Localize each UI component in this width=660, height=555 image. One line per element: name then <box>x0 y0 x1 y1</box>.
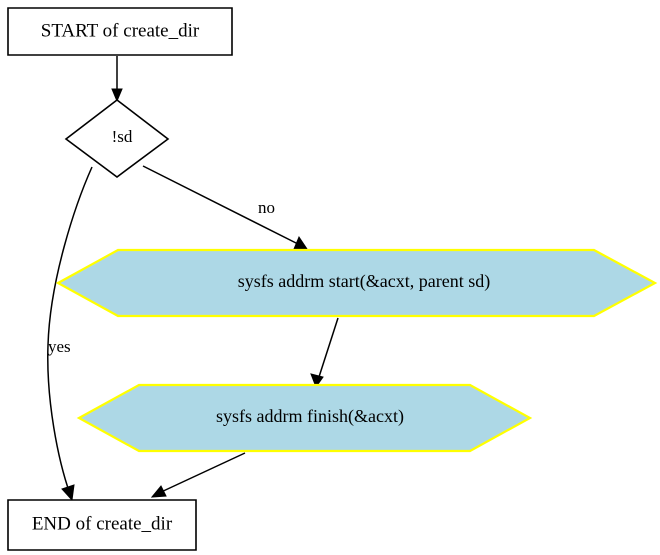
edge-line-condition-no-to-addrm-start <box>143 166 300 245</box>
node-start[interactable]: START of create_dir <box>8 8 232 55</box>
edge-line-condition-yes-to-end <box>48 167 92 494</box>
edge-start-to-condition <box>112 56 122 101</box>
node-end[interactable]: END of create_dir <box>8 500 196 550</box>
edge-addrm-start-to-addrm-finish <box>311 318 338 387</box>
edge-condition-no-to-addrm-start <box>143 166 307 249</box>
flowchart-canvas: no yes START of create_dir !sd sysfs add… <box>0 0 660 555</box>
node-end-label: END of create_dir <box>32 513 173 534</box>
node-condition-sd-label: !sd <box>112 127 133 146</box>
node-addrm-start[interactable]: sysfs addrm start(&acxt, parent sd) <box>58 250 655 316</box>
edge-condition-yes-to-end <box>48 167 92 500</box>
edge-label-no: no <box>258 198 275 217</box>
node-start-label: START of create_dir <box>41 20 200 41</box>
edge-label-yes: yes <box>48 337 71 356</box>
edge-line-addrm-finish-to-end <box>159 453 245 493</box>
node-condition-sd[interactable]: !sd <box>66 100 168 177</box>
node-addrm-start-label: sysfs addrm start(&acxt, parent sd) <box>238 271 490 292</box>
arrowhead-icon-addrm-finish-to-end <box>152 486 166 497</box>
node-addrm-finish[interactable]: sysfs addrm finish(&acxt) <box>79 385 530 451</box>
arrowhead-icon-condition-yes-to-end <box>62 485 74 500</box>
node-addrm-finish-label: sysfs addrm finish(&acxt) <box>216 406 404 427</box>
edge-line-addrm-start-to-addrm-finish <box>318 318 338 380</box>
edge-addrm-finish-to-end <box>152 453 245 497</box>
flowchart-diagram: no yes START of create_dir !sd sysfs add… <box>0 0 660 555</box>
